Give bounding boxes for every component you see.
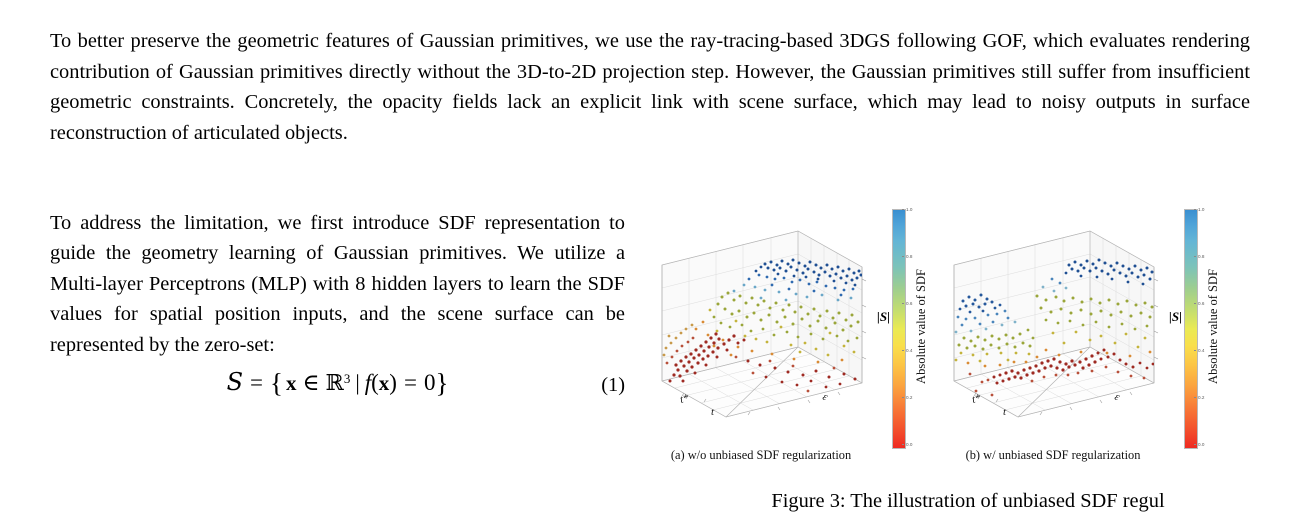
colorbar-axis-label-a: Absolute value of SDF xyxy=(912,207,930,445)
figure-3: t* t ε |S| 1.0 0.8 0.6 0.4 0.2 0.0 Absol… xyxy=(648,205,1288,505)
figure-caption: Figure 3: The illustration of unbiased S… xyxy=(648,487,1288,515)
equation-mid-bar: | xyxy=(350,370,364,395)
axis-label-t-a: t xyxy=(711,406,714,418)
colorbar-axis-label-b: Absolute value of SDF xyxy=(1204,207,1222,445)
equation-close-brace: } xyxy=(435,368,448,398)
equation-zero: 0 xyxy=(424,370,436,395)
equation-1: S={x∈ℝ3|f(x)=0} xyxy=(50,368,625,399)
equation-open-brace: { xyxy=(270,368,283,398)
axis-label-abs-s-b: |S| xyxy=(1169,309,1182,325)
equation-equals: = xyxy=(243,370,270,395)
equation-in-symbol: ∈ xyxy=(296,370,325,395)
subcaption-b: (b) w/ unbiased SDF regularization xyxy=(940,448,1166,463)
equation-number: (1) xyxy=(601,374,625,397)
equation-lhs: S xyxy=(227,368,243,396)
equation-arg-x: x xyxy=(379,371,390,395)
axis-label-abs-s-a: |S| xyxy=(877,309,890,325)
left-text-column: To address the limitation, we first intr… xyxy=(50,208,625,412)
equation-vector-x: x xyxy=(283,371,297,395)
figure-panel-a: t* t ε |S| 1.0 0.8 0.6 0.4 0.2 0.0 Absol… xyxy=(648,205,938,450)
colorbar-a: 1.0 0.8 0.6 0.4 0.2 0.0 Absolute value o… xyxy=(892,207,932,449)
axis-label-t-b: t xyxy=(1003,406,1006,418)
equation-lparen: ( xyxy=(371,370,379,395)
equation-row: S={x∈ℝ3|f(x)=0} (1) xyxy=(50,366,625,412)
intro-paragraph: To better preserve the geometric feature… xyxy=(50,26,1250,148)
equation-rparen: ) xyxy=(389,370,397,395)
sdf-paragraph: To address the limitation, we first intr… xyxy=(50,208,625,360)
figure-panels: t* t ε |S| 1.0 0.8 0.6 0.4 0.2 0.0 Absol… xyxy=(648,205,1288,450)
equation-reals: ℝ xyxy=(326,371,344,396)
equation-equals-2: = xyxy=(397,370,424,395)
figure-panel-b: t* t ε |S| 1.0 0.8 0.6 0.4 0.2 0.0 Absol… xyxy=(940,205,1230,450)
colorbar-b: 1.0 0.8 0.6 0.4 0.2 0.0 Absolute value o… xyxy=(1184,207,1224,449)
subcaption-a: (a) w/o unbiased SDF regularization xyxy=(648,448,874,463)
